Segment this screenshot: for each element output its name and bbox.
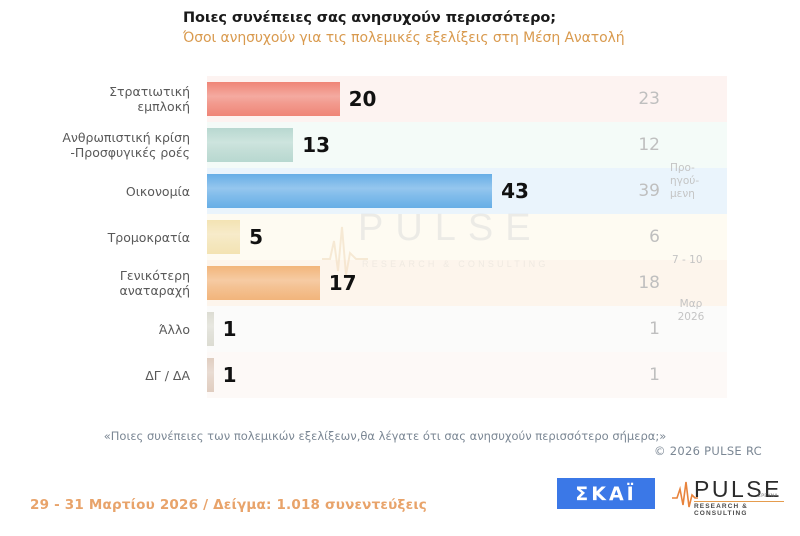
previous-value-label: 1 xyxy=(600,352,660,398)
previous-column-range: 7 - 10 xyxy=(672,254,703,267)
bar-value-label: 20 xyxy=(349,76,377,122)
previous-value-label: 39 xyxy=(600,168,660,214)
category-label: Άλλο xyxy=(0,306,190,352)
bar xyxy=(207,174,492,208)
skai-logo-text: ΣΚΑΪ xyxy=(575,483,636,505)
previous-value-label: 6 xyxy=(600,214,660,260)
previous-value-label: 23 xyxy=(600,76,660,122)
category-label: Στρατιωτική εμπλοκή xyxy=(0,76,190,122)
survey-question: «Ποιες συνέπειες των πολεμικών εξελίξεων… xyxy=(0,428,770,444)
category-label: Γενικότερη αναταραχή xyxy=(0,260,190,306)
fieldwork-dates: 29 - 31 Μαρτίου 2026 / Δείγμα: 1.018 συν… xyxy=(30,497,427,513)
pulse-logo-tiny: ΕΡΕΥΝΑ xyxy=(758,494,778,499)
previous-value-label: 18 xyxy=(600,260,660,306)
bar-value-label: 43 xyxy=(501,168,529,214)
page-subtitle: Όσοι ανησυχούν για τις πολεμικές εξελίξε… xyxy=(183,28,800,49)
category-label: Οικονομία xyxy=(0,168,190,214)
page-title: Ποιες συνέπειες σας ανησυχούν περισσότερ… xyxy=(183,8,800,28)
previous-column-date: Μαρ 2026 xyxy=(672,298,710,324)
bar-chart: PULSE RESEARCH & CONSULTING Προ- ηγού- μ… xyxy=(0,76,800,408)
table-row: ΔΓ / ΔΑ11 xyxy=(0,352,800,398)
chart-header: Ποιες συνέπειες σας ανησυχούν περισσότερ… xyxy=(0,0,800,49)
bar-value-label: 5 xyxy=(249,214,263,260)
pulse-logo-subtext: RESEARCH & CONSULTING xyxy=(694,503,784,517)
previous-value-label: 1 xyxy=(600,306,660,352)
bar xyxy=(207,128,293,162)
bar xyxy=(207,312,214,346)
bar xyxy=(207,358,214,392)
bar xyxy=(207,266,320,300)
bar xyxy=(207,220,240,254)
bar-value-label: 1 xyxy=(223,352,237,398)
category-label: Ανθρωπιστική κρίση -Προσφυγικές ροές xyxy=(0,122,190,168)
bar-value-label: 1 xyxy=(223,306,237,352)
previous-value-label: 12 xyxy=(600,122,660,168)
category-label: ΔΓ / ΔΑ xyxy=(0,352,190,398)
copyright-text: © 2026 PULSE RC xyxy=(0,444,762,458)
footer-bar: 29 - 31 Μαρτίου 2026 / Δείγμα: 1.018 συν… xyxy=(0,470,800,536)
skai-logo: ΣΚΑΪ xyxy=(557,478,655,509)
bar xyxy=(207,82,340,116)
pulse-logo-rule xyxy=(694,501,784,502)
bar-value-label: 13 xyxy=(302,122,330,168)
previous-column-header: Προ- ηγού- μενη xyxy=(670,162,699,201)
bar-value-label: 17 xyxy=(329,260,357,306)
category-label: Τρομοκρατία xyxy=(0,214,190,260)
pulse-logo: PULSE ΕΡΕΥΝΑ RESEARCH & CONSULTING xyxy=(672,476,784,514)
table-row: Στρατιωτική εμπλοκή2023 xyxy=(0,76,800,122)
